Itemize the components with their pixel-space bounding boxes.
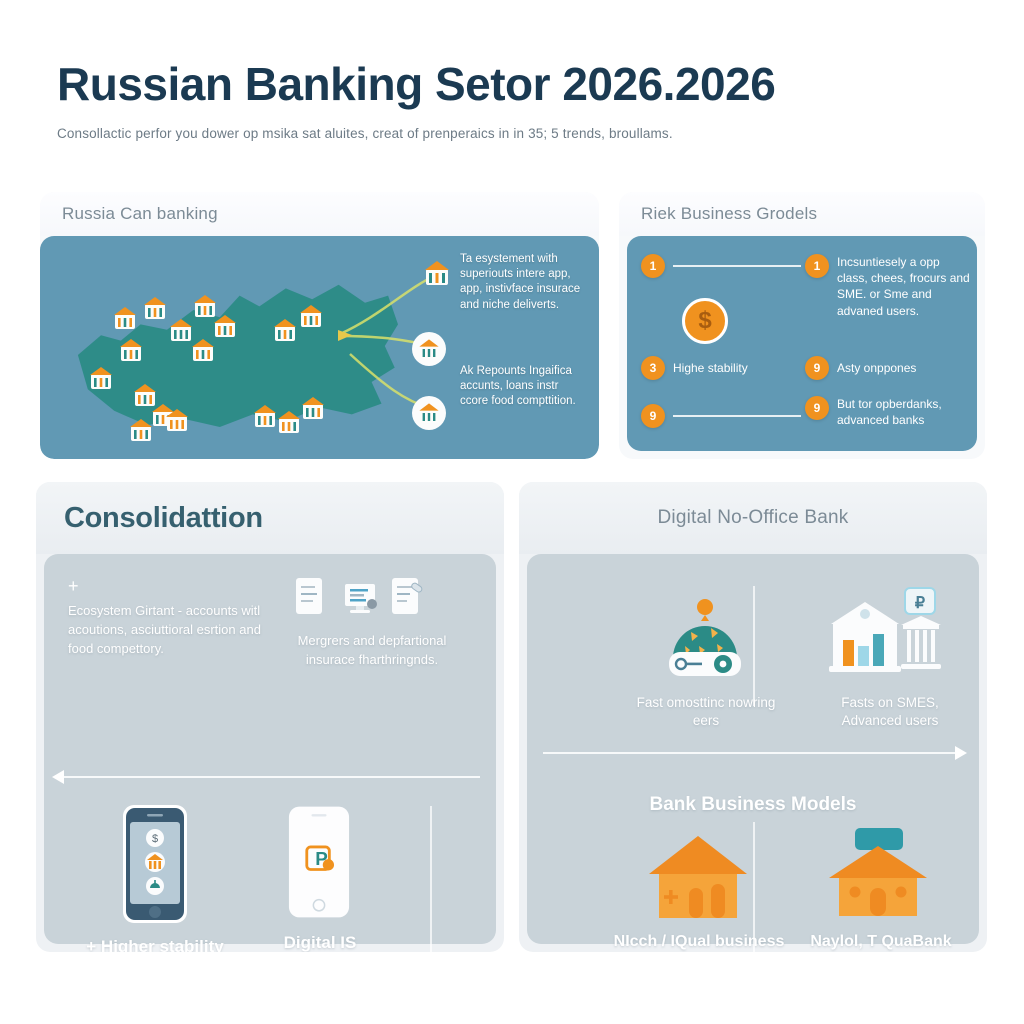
bank-pin-icon [252,402,278,430]
bank-pin-icon [164,406,190,434]
bank-chart-icon: ₽ [825,586,943,691]
house-label: NIcch / IQual business [609,932,789,952]
digital-body: Fast omosttinc nowring eers ₽ [527,554,979,944]
bank-pin-icon [276,408,302,436]
models-panel-body: 1 $ 3 Highe stability 9 1 Incsuntiesely … [627,236,977,451]
digital-caption: Fasts on SMES, Advanced users [815,694,965,730]
panel-business-models: Riek Business Grodels 1 $ 3 Highe stabil… [619,192,985,459]
bank-pin-icon [128,416,154,444]
document-icon-group [294,576,424,618]
house-bank-icon [643,832,753,927]
consolidation-left-text: Ecosystem Girtant - accounts witl acouti… [68,602,268,659]
svg-text:₽: ₽ [915,595,925,612]
badge-number: 3 [641,356,665,380]
digital-divider [543,752,963,754]
model-row-right-3: 9 But tor opberdanks, advanced banks [805,396,971,428]
bank-pin-icon [112,304,138,332]
badge-number: 9 [805,396,829,420]
dollar-coin-icon: $ [682,298,728,344]
consolidation-body: + Ecosystem Girtant - accounts witl acou… [44,554,496,944]
consolidation-title: Consolidattion [36,502,263,535]
bank-pin-icon [142,294,168,322]
map-callout-text: Ta esystement with superiouts intere app… [460,252,588,313]
consolidation-right-text: Mergrers and depfartional insurace fhart… [272,632,472,670]
house-label: Naylol, T QuaBank [799,932,963,952]
consolidation-header: Consolidattion [36,482,504,554]
consolidation-vertical-divider [430,806,432,952]
phone-label: + Higher stability [82,936,228,952]
digital-top-divider [753,586,755,706]
bank-pin-icon [298,302,324,330]
callout-bank-icon [412,332,446,366]
map-panel-title: Russia Can banking [40,204,218,224]
badge-number: 9 [641,404,665,428]
house-bank-roof-icon [823,826,933,927]
digital-caption: Fast omosttinc nowring eers [635,694,777,730]
digital-bottom-divider [753,822,755,952]
arrow-right-icon [951,746,967,760]
plus-sign-icon: + [68,576,79,597]
model-row-right-1: 1 Incsuntiesely a opp class, chees, froc… [805,254,971,319]
bank-pin-icon [212,312,238,340]
phone-icon: $ [122,804,188,929]
panel-russia-banking: Russia Can banking [40,192,599,459]
model-label: But tor opberdanks, advanced banks [837,396,971,428]
model-row-right-2: 9 Asty onppones [805,356,916,380]
digital-header: Digital No-Office Bank [519,482,987,554]
bank-pin-icon [300,394,326,422]
map-panel-header: Russia Can banking [40,192,599,236]
document-icon [294,576,328,618]
svg-text:$: $ [152,833,158,845]
panel-consolidation: Consolidattion + Ecosystem Girtant - acc… [36,482,504,952]
model-row-left-1: 1 [641,254,801,278]
badge-number: 9 [805,356,829,380]
badge-number: 1 [641,254,665,278]
monitor-report-icon [342,576,376,618]
arrow-left-icon [52,770,68,784]
document-pen-icon [390,576,424,618]
model-row-left-2: 3 Highe stability [641,356,748,380]
page-header: Russian Banking Setor 2026.2026 Consolla… [57,60,967,141]
bank-pin-icon [118,336,144,364]
row-rule [673,265,801,267]
models-panel-title: Riek Business Grodels [619,204,817,224]
bank-pin-icon [88,364,114,392]
dome-key-icon [655,592,755,693]
panel-digital-bank: Digital No-Office Bank Fast omosttinc no… [519,482,987,952]
bank-pin-icon [272,316,298,344]
page-subtitle: Consollactic perfor you dower op msika s… [57,126,967,141]
bank-pin-icon [190,336,216,364]
russia-map-body: Ta esystement with superiouts intere app… [40,236,599,459]
consolidation-divider [60,776,480,778]
phone-app-icon: P [288,804,350,925]
models-panel-header: Riek Business Grodels [619,192,985,236]
callout-bank-icon [412,396,446,430]
model-row-left-3: 9 [641,404,801,428]
page-title: Russian Banking Setor 2026.2026 [57,60,967,108]
model-label: Highe stability [673,360,748,376]
digital-title: Digital No-Office Bank [658,507,849,529]
map-callout-text: Ak Repounts Ingaifica accunts, loans ins… [460,364,588,410]
row-rule [673,415,801,417]
model-label: Asty onppones [837,360,916,376]
model-label: Incsuntiesely a opp class, chees, frocur… [837,254,971,319]
callout-bank-icon [420,256,454,290]
digital-section-title: Bank Business Models [527,794,979,816]
badge-number: 1 [805,254,829,278]
phone-label: Digital IS [242,932,398,952]
